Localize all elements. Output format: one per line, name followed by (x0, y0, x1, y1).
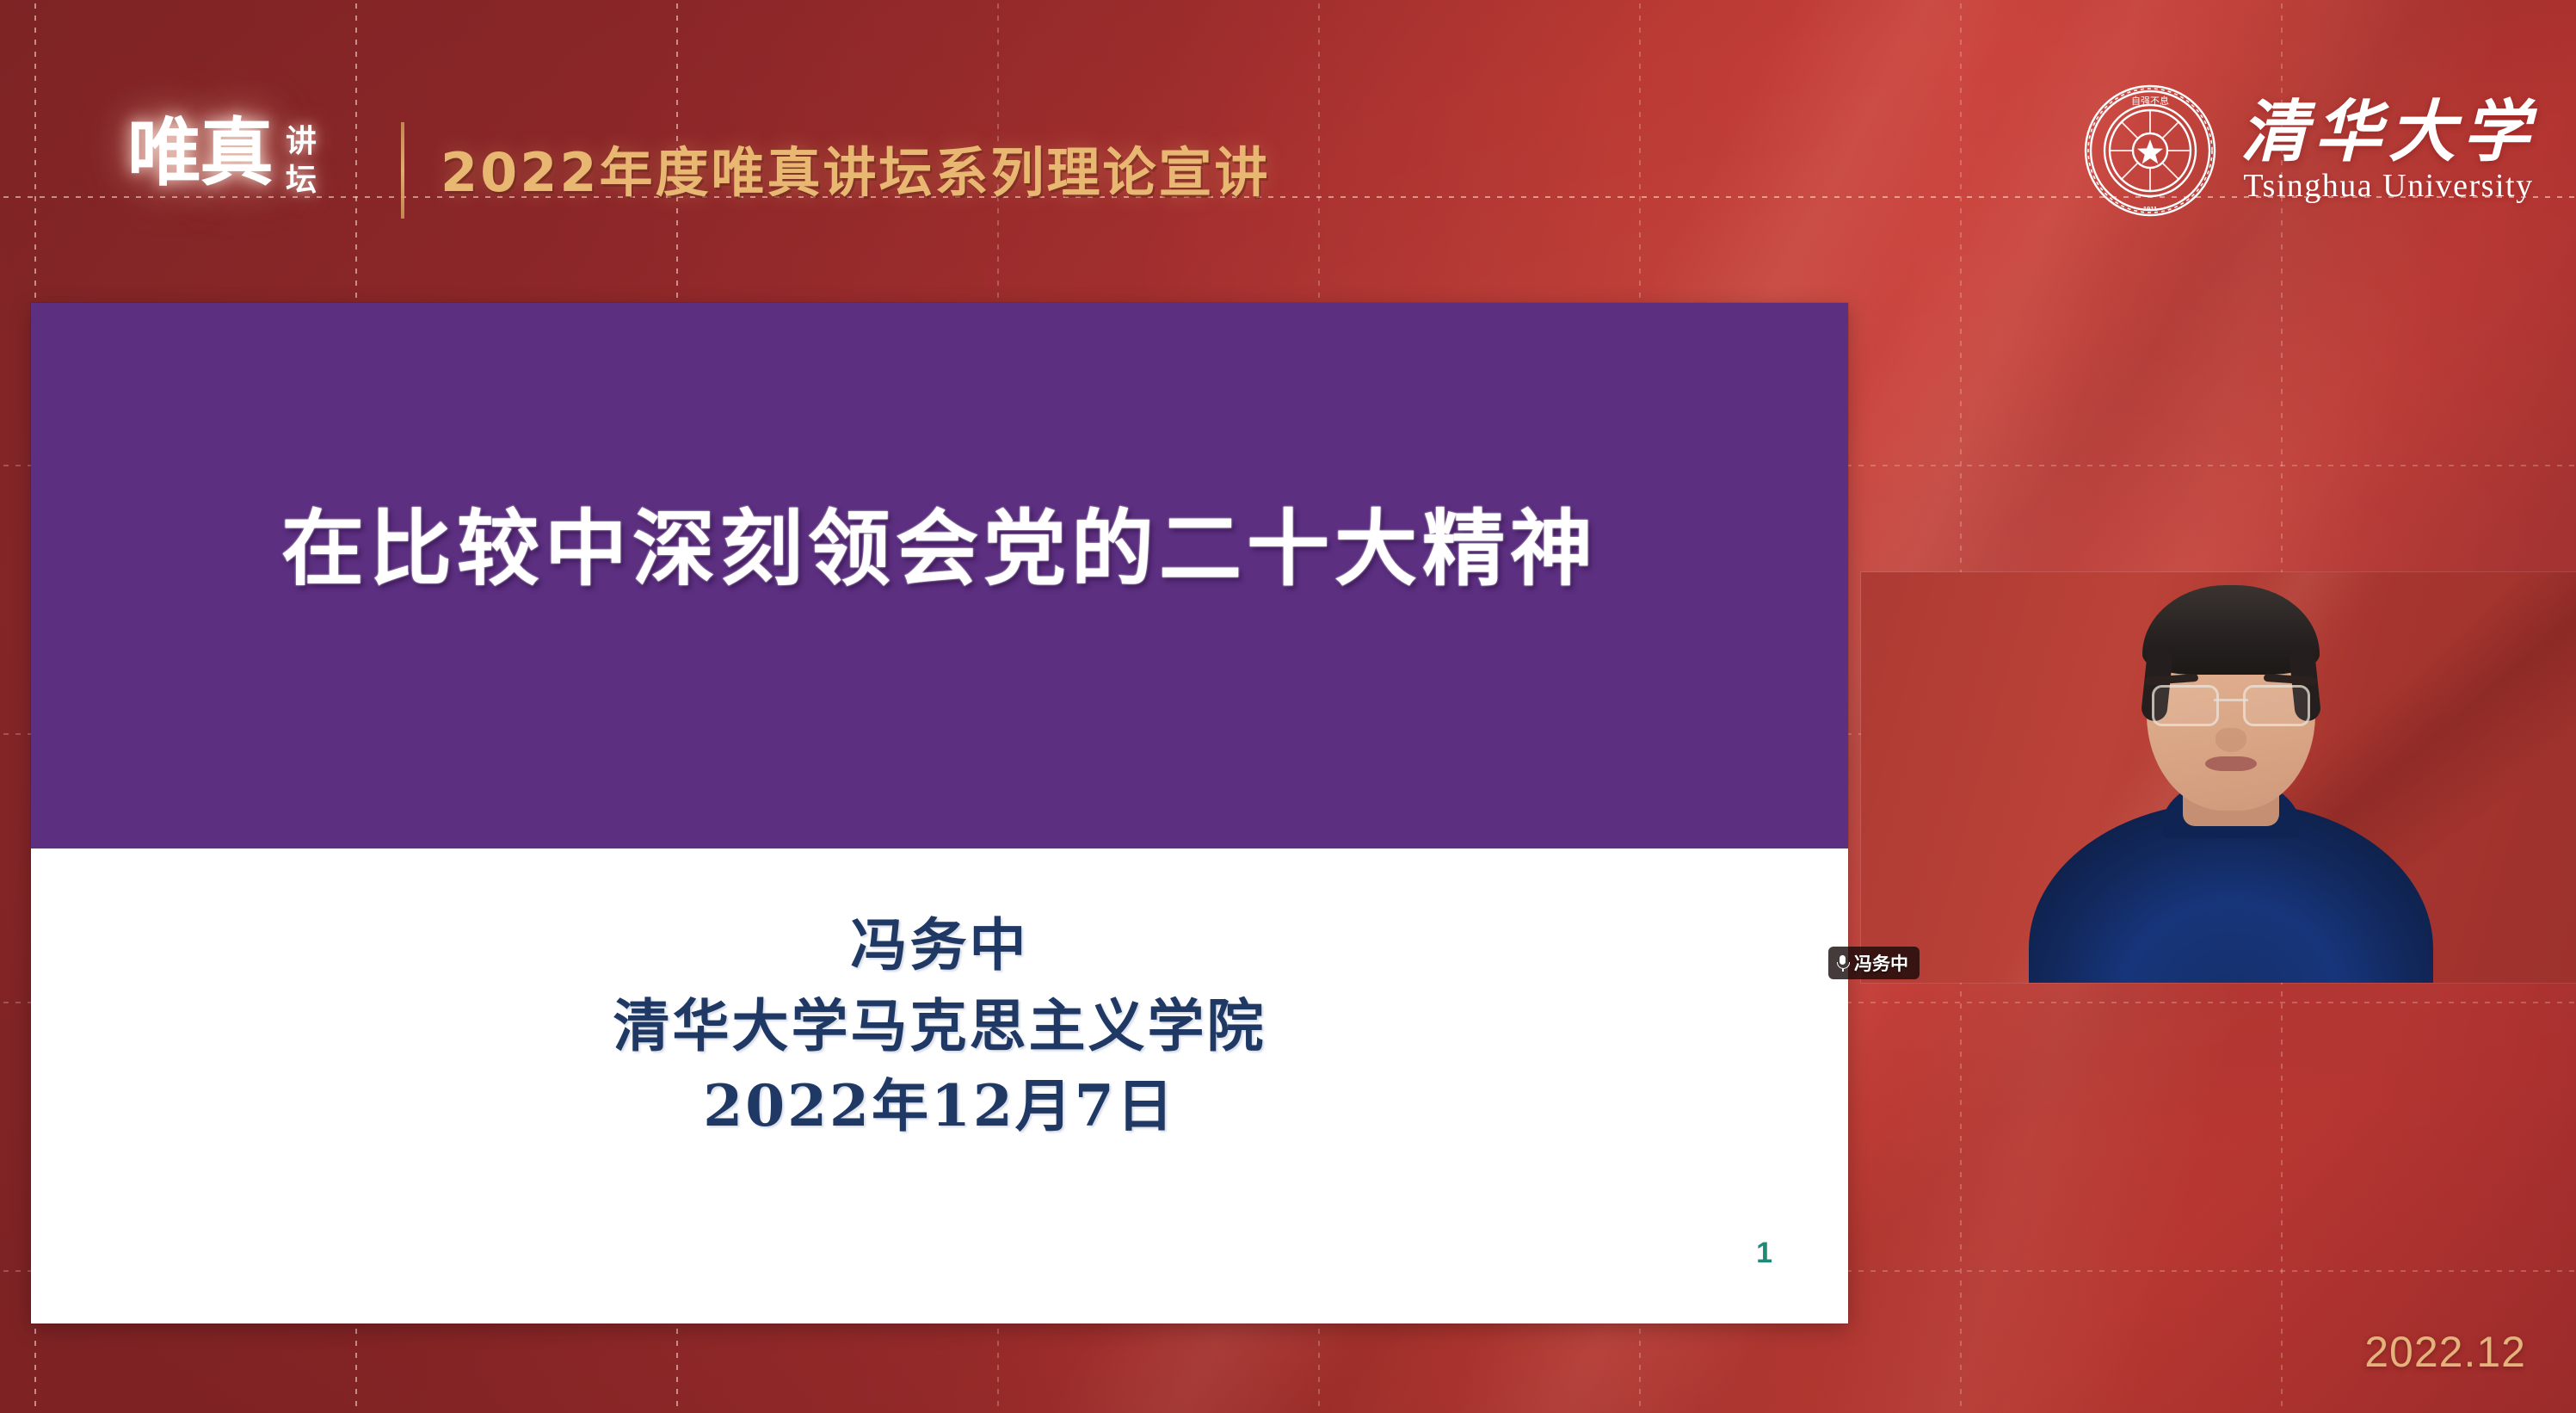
weizhen-forum-logo: 唯真 讲 坛 (127, 119, 317, 200)
date-watermark: 2022.12 (2364, 1327, 2526, 1377)
presentation-slide[interactable]: 在比较中深刻领会党的二十大精神 冯务中 清华大学马克思主义学院 2022年12月… (31, 303, 1848, 1324)
logo-sub-line-1: 讲 (286, 122, 317, 161)
svg-text:1911: 1911 (2143, 205, 2157, 213)
participant-webcam-image (2007, 613, 2455, 983)
participant-name-label: 冯务中 (1854, 950, 1908, 976)
slide-title: 在比较中深刻领会党的二十大精神 (31, 482, 1848, 602)
speaker-name: 冯务中 (31, 905, 1848, 986)
tsinghua-seal-icon: 1911 自强不息 (2082, 83, 2218, 219)
logo-sub-line-2: 坛 (286, 161, 317, 200)
header-bar: 唯真 讲 坛 2022年度唯真讲坛系列理论宣讲 (0, 0, 2576, 293)
logo-sub-text: 讲 坛 (286, 119, 317, 200)
header-title: 2022年度唯真讲坛系列理论宣讲 (441, 129, 1271, 207)
participant-nameplate: 冯务中 (1828, 947, 1920, 979)
speaker-affiliation: 清华大学马克思主义学院 (31, 986, 1848, 1067)
tsinghua-name-en: Tsinghua University (2243, 170, 2533, 202)
header-divider (401, 122, 404, 219)
microphone-icon (1837, 955, 1848, 972)
logo-main-text: 唯真 (127, 119, 272, 189)
tsinghua-university-logo: 1911 自强不息 清华大学 Tsinghua University (2082, 83, 2536, 219)
slide-page-number: 1 (1756, 1237, 1772, 1270)
svg-text:自强不息: 自强不息 (2131, 95, 2169, 107)
tsinghua-name-cn: 清华大学 (2240, 99, 2536, 166)
presentation-stage: 唯真 讲 坛 2022年度唯真讲坛系列理论宣讲 (0, 0, 2576, 1413)
participant-video-tile[interactable] (1861, 572, 2576, 983)
tsinghua-wordmark: 清华大学 Tsinghua University (2240, 99, 2536, 202)
slide-body: 冯务中 清华大学马克思主义学院 2022年12月7日 (31, 905, 1848, 1147)
slide-date: 2022年12月7日 (31, 1066, 1848, 1147)
